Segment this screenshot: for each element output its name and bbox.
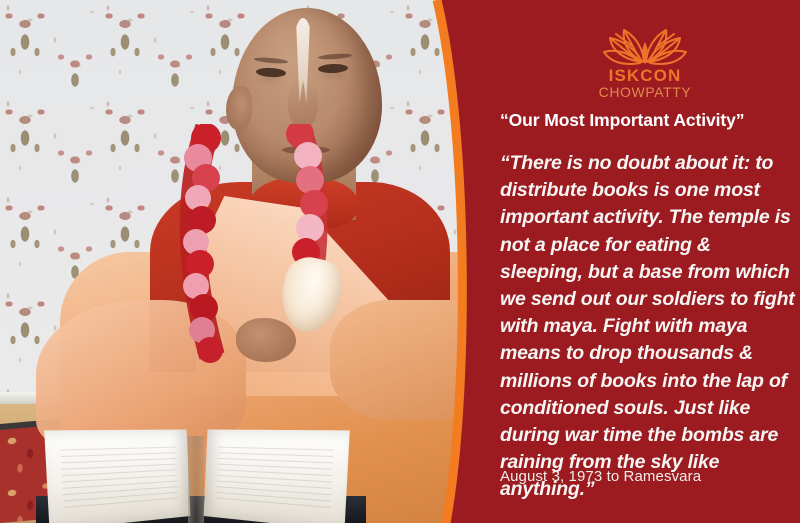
book-text-lines-right [216, 447, 334, 512]
nose [288, 80, 318, 130]
open-book [48, 430, 348, 523]
quote-card: ISKCON CHOWPATTY “Our Most Important Act… [0, 0, 800, 523]
book-page-right [204, 430, 350, 523]
rose-garland [150, 124, 350, 374]
logo-text-chowpatty: CHOWPATTY [585, 84, 705, 100]
headline: “Our Most Important Activity” [500, 110, 800, 131]
iskcon-chowpatty-logo[interactable]: ISKCON CHOWPATTY [585, 12, 705, 104]
logo-text-iskcon: ISKCON [585, 67, 705, 84]
lotus-icon [602, 12, 688, 70]
book-page-left [44, 430, 190, 523]
quote-text: “There is no doubt about it: to distribu… [500, 150, 795, 504]
prabhupada-photo [0, 0, 490, 523]
book-text-lines-left [60, 447, 178, 512]
right-arm [330, 300, 480, 420]
attribution: August 3, 1973 to Ramesvara [500, 468, 795, 485]
book-spine [188, 436, 204, 523]
text-panel: ISKCON CHOWPATTY “Our Most Important Act… [495, 0, 800, 523]
